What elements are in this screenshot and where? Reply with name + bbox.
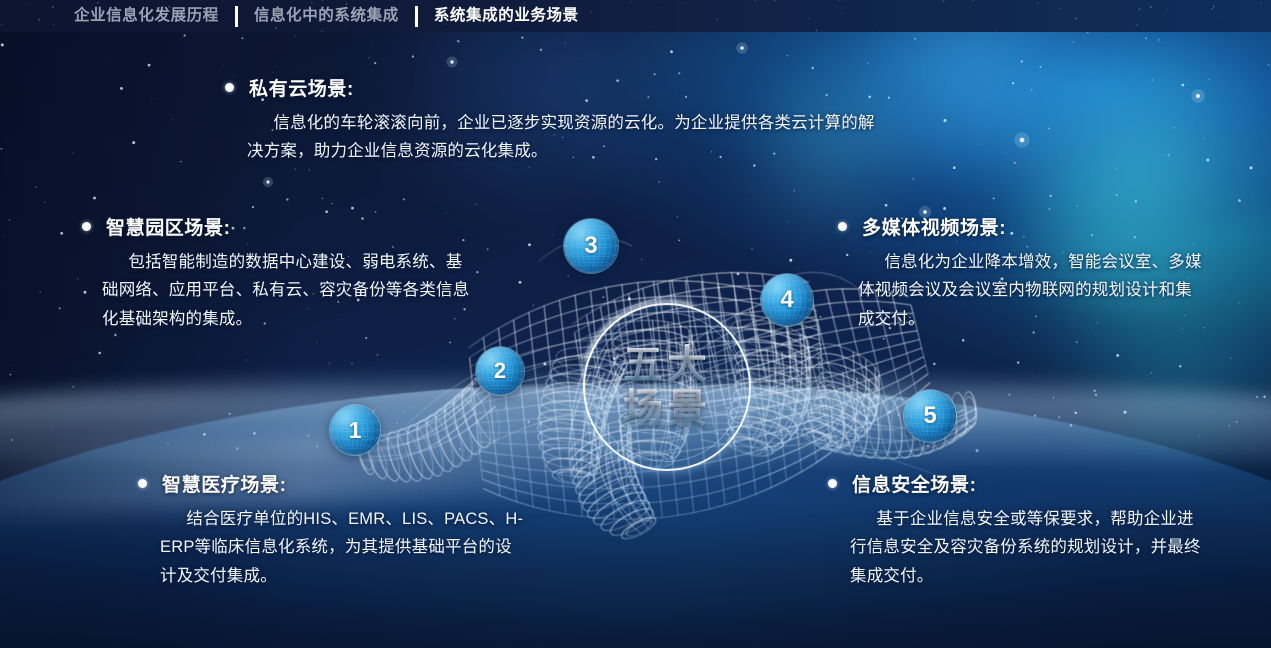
bullet-icon — [138, 479, 147, 488]
scenario-title: 信息安全场景: — [852, 470, 977, 497]
sphere-grid-overlay — [330, 405, 380, 455]
scenario-heading: 智慧园区场景: — [82, 213, 477, 240]
scenario-title: 智慧医疗场景: — [162, 470, 287, 497]
scenario-body: 结合医疗单位的HIS、EMR、LIS、PACS、H-ERP等临床信息化系统，为其… — [138, 505, 528, 590]
scenario-node-4[interactable]: 4 — [761, 274, 813, 326]
scenario-node-3[interactable]: 3 — [564, 219, 618, 273]
sphere-grid-overlay — [904, 390, 956, 442]
sphere-grid-overlay — [476, 347, 524, 395]
sphere-grid-overlay — [564, 219, 618, 273]
scenario-node-5[interactable]: 5 — [904, 390, 956, 442]
scenario-node-2[interactable]: 2 — [476, 347, 524, 395]
scenario-heading: 私有云场景: — [225, 74, 885, 101]
badge-label: 五大 场景 — [583, 303, 751, 471]
tab-divider — [235, 6, 238, 27]
bullet-icon — [828, 479, 837, 488]
scenario-block-smart-medical: 智慧医疗场景: 结合医疗单位的HIS、EMR、LIS、PACS、H-ERP等临床… — [138, 470, 528, 590]
scenario-body: 基于企业信息安全或等保要求，帮助企业进行信息安全及容灾备份系统的规划设计，并最终… — [828, 505, 1210, 590]
scenario-body: 信息化的车轮滚滚向前，企业已逐步实现资源的云化。为企业提供各类云计算的解决方案，… — [225, 109, 885, 166]
tab-divider — [415, 6, 418, 27]
scenario-body: 信息化为企业降本增效，智能会议室、多媒体视频会议及会议室内物联网的规划设计和集成… — [838, 248, 1208, 333]
sphere-grid-overlay — [761, 274, 813, 326]
scenario-node-1[interactable]: 1 — [330, 405, 380, 455]
tab-system-integration-in-it[interactable]: 信息化中的系统集成 — [240, 0, 413, 32]
tab-enterprise-it-history[interactable]: 企业信息化发展历程 — [60, 0, 233, 32]
scenario-block-smart-park: 智慧园区场景: 包括智能制造的数据中心建设、弱电系统、基础网络、应用平台、私有云… — [82, 213, 477, 333]
five-scenarios-badge: 五大 场景 — [583, 303, 751, 471]
slide-canvas: 企业信息化发展历程 信息化中的系统集成 系统集成的业务场景 — [0, 0, 1271, 648]
badge-line-1: 五大 — [623, 344, 711, 386]
scenario-heading: 信息安全场景: — [828, 470, 1210, 497]
bullet-icon — [82, 222, 91, 231]
scenario-title: 私有云场景: — [249, 74, 354, 101]
bullet-icon — [225, 83, 234, 92]
scenario-body: 包括智能制造的数据中心建设、弱电系统、基础网络、应用平台、私有云、容灾备份等各类… — [82, 248, 477, 333]
scenario-heading: 智慧医疗场景: — [138, 470, 528, 497]
tab-list: 企业信息化发展历程 信息化中的系统集成 系统集成的业务场景 — [60, 0, 593, 32]
tab-business-scenarios[interactable]: 系统集成的业务场景 — [420, 0, 593, 32]
bullet-icon — [838, 222, 847, 231]
top-tab-bar: 企业信息化发展历程 信息化中的系统集成 系统集成的业务场景 — [0, 0, 1271, 32]
scenario-heading: 多媒体视频场景: — [838, 213, 1208, 240]
scenario-title: 多媒体视频场景: — [862, 213, 1006, 240]
scenario-block-info-security: 信息安全场景: 基于企业信息安全或等保要求，帮助企业进行信息安全及容灾备份系统的… — [828, 470, 1210, 590]
scenario-block-private-cloud: 私有云场景: 信息化的车轮滚滚向前，企业已逐步实现资源的云化。为企业提供各类云计… — [225, 74, 885, 166]
badge-line-2: 场景 — [623, 388, 711, 430]
scenario-title: 智慧园区场景: — [106, 213, 231, 240]
scenario-block-multimedia-video: 多媒体视频场景: 信息化为企业降本增效，智能会议室、多媒体视频会议及会议室内物联… — [838, 213, 1208, 333]
